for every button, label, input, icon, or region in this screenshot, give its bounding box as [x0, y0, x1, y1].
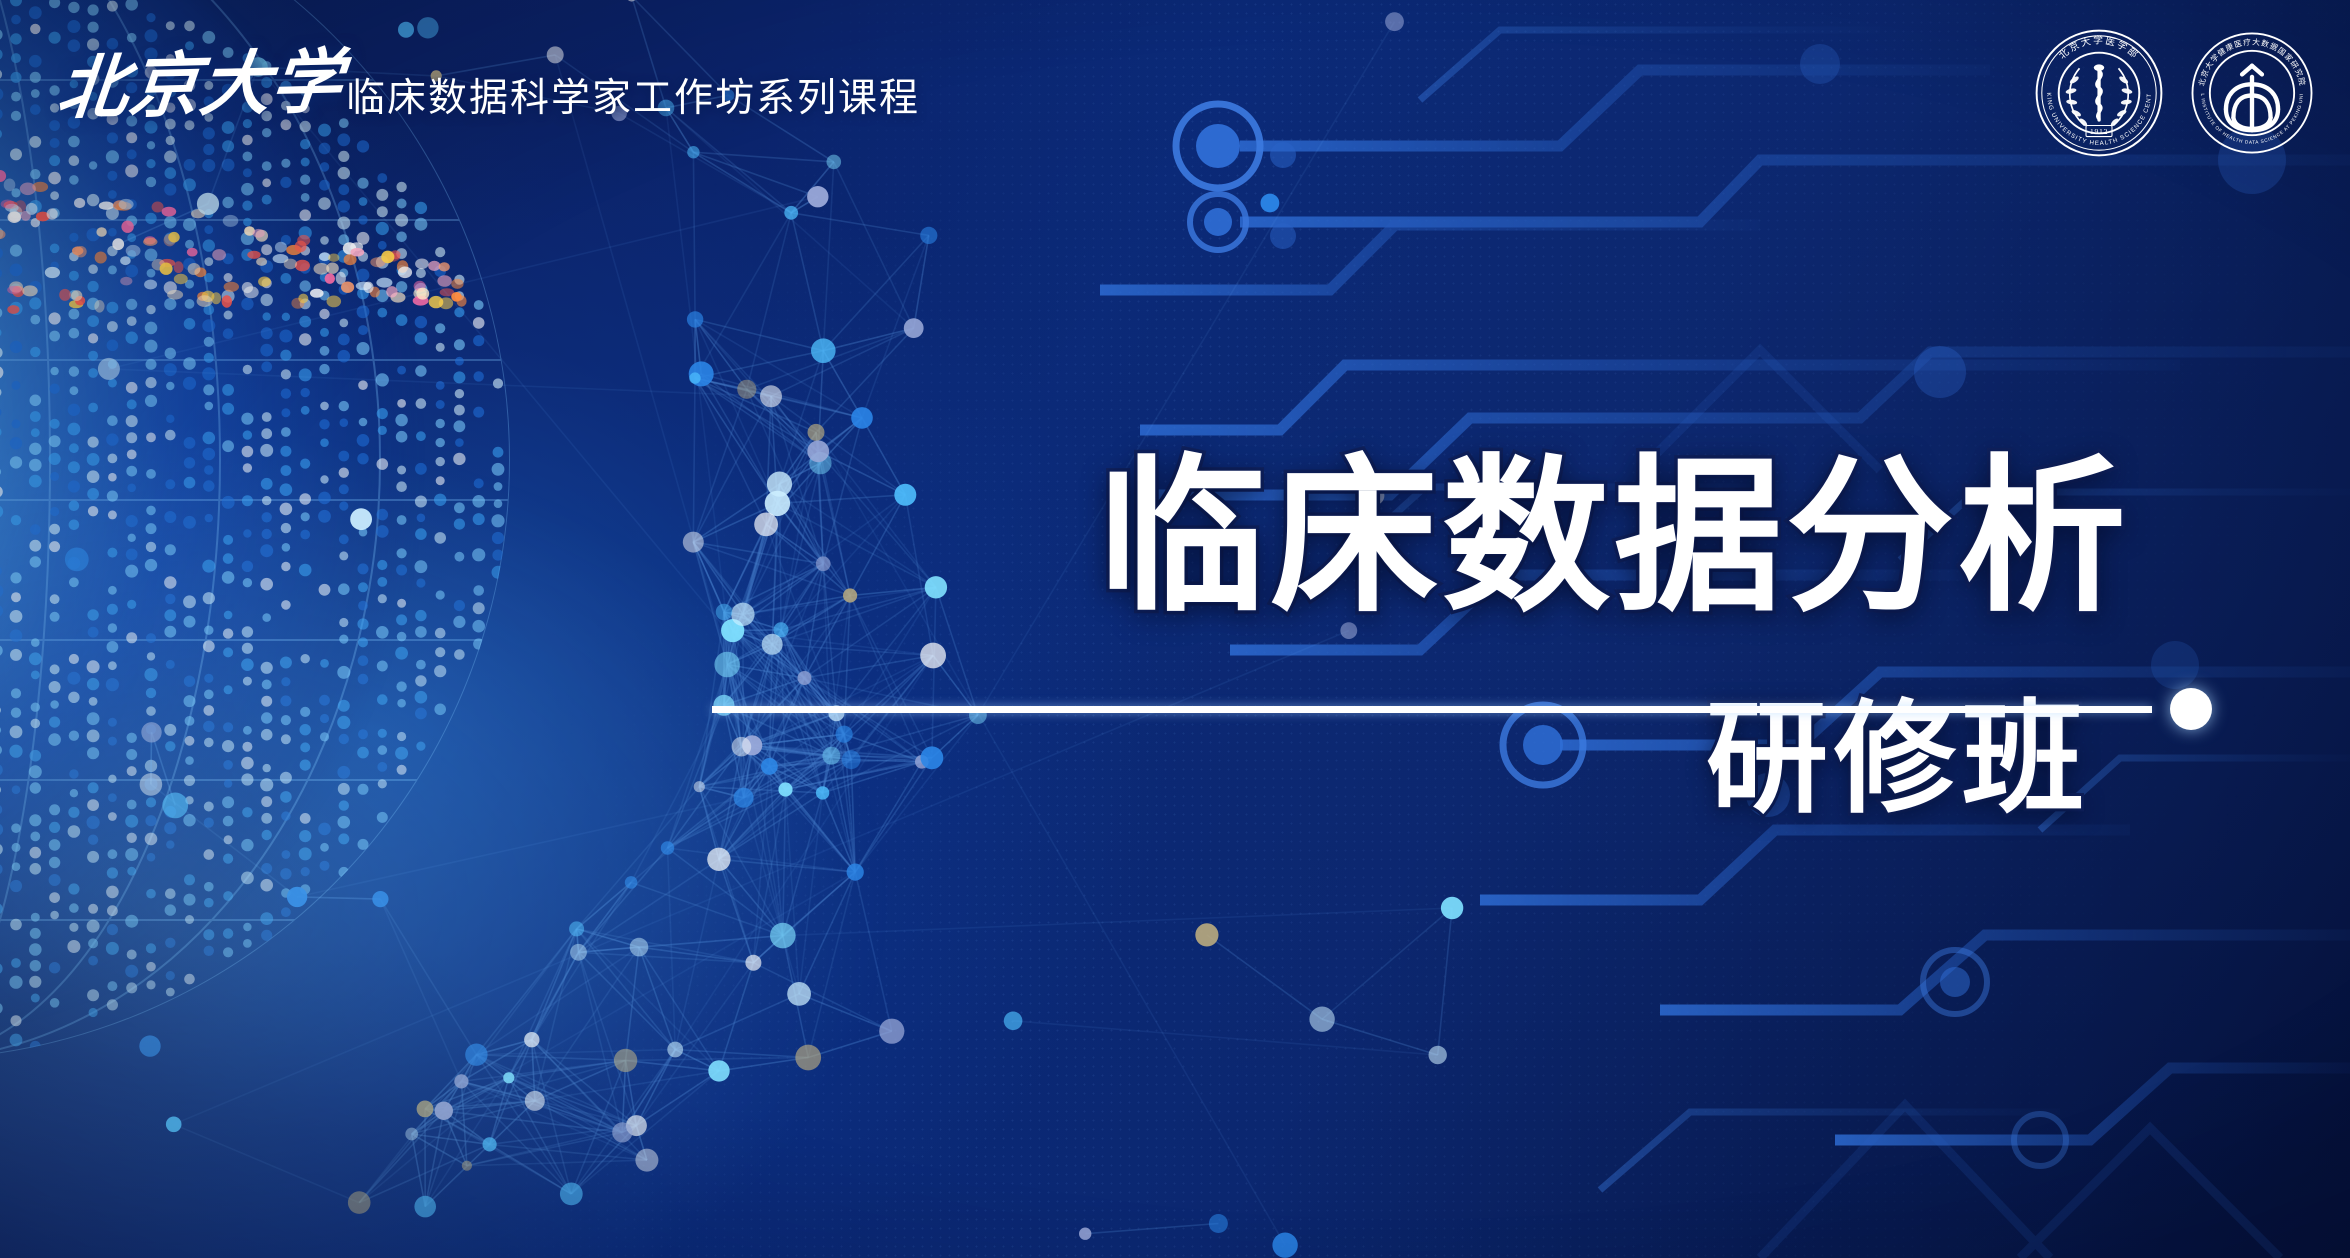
globe-dot-map	[0, 0, 860, 1258]
brand-header: 北京大学 临床数据科学家工作坊系列课程	[58, 52, 920, 122]
event-banner: 北京大学 临床数据科学家工作坊系列课程 北京大学医学部 PEKING U	[0, 0, 2350, 1258]
series-subtitle: 临床数据科学家工作坊系列课程	[346, 79, 920, 122]
divider-line	[712, 706, 2152, 713]
page-title: 临床数据分析	[1098, 452, 2130, 623]
divider-end-dot	[2170, 688, 2212, 730]
title-divider	[712, 688, 2212, 730]
globe-core	[0, 0, 410, 1020]
title-block: 临床数据分析 研修班	[1098, 452, 2130, 822]
globe-glow	[0, 0, 460, 1060]
peking-university-health-science-center-seal-icon: 北京大学医学部 PEKING UNIVERSITY HEALTH SCIENCE…	[2034, 28, 2164, 158]
national-institute-of-health-data-science-seal-icon: 北京大学健康医疗大数据国家研究院 NATIONAL INSTITUTE OF H…	[2190, 31, 2314, 155]
pku-wordmark: 北京大学	[54, 49, 346, 126]
data-globe	[0, 0, 860, 1258]
institution-logos: 北京大学医学部 PEKING UNIVERSITY HEALTH SCIENCE…	[2034, 28, 2314, 158]
svg-text:1912: 1912	[2090, 127, 2108, 136]
